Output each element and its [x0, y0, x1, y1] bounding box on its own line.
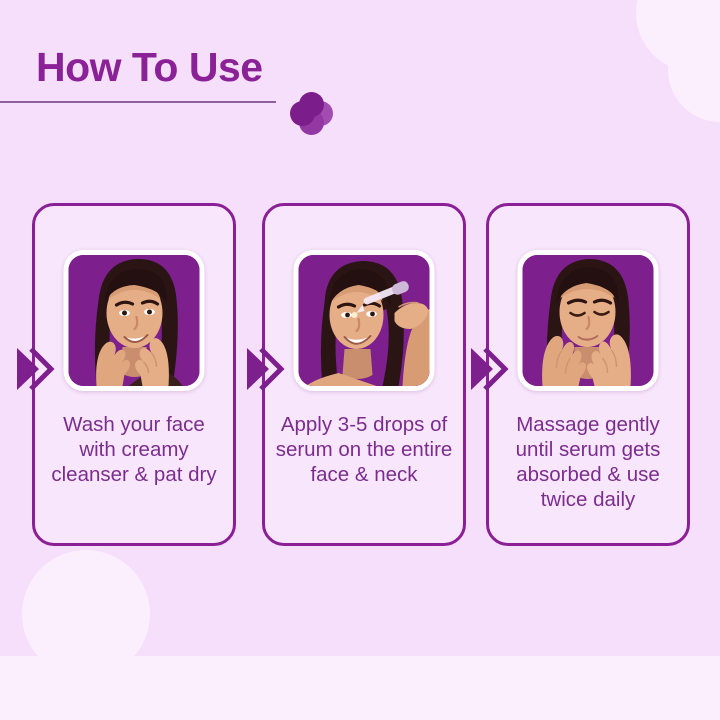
chevron-right-icon-3 [467, 346, 509, 392]
decorative-blob-top-right-a [636, 0, 720, 72]
step-1-caption: Wash your face with creamy cleanser & pa… [43, 412, 225, 487]
chevron-right-icon-1 [13, 346, 55, 392]
decorative-blob-bottom-left [22, 550, 150, 678]
step-3-caption: Massage gently until serum gets absorbed… [497, 412, 679, 512]
page-title: How To Use [0, 44, 340, 90]
steps-row: Wash your face with creamy cleanser & pa… [0, 203, 720, 548]
title-divider [0, 101, 276, 103]
woman-washing-face-photo [69, 255, 200, 386]
step-2-photo-frame [294, 250, 435, 391]
four-petal-flower-icon [290, 92, 334, 136]
woman-applying-serum-dropper-photo [299, 255, 430, 386]
step-card-3: Massage gently until serum gets absorbed… [486, 203, 690, 546]
step-1-photo-frame [64, 250, 205, 391]
step-2-caption: Apply 3-5 drops of serum on the entire f… [273, 412, 455, 487]
woman-massaging-face-photo [523, 255, 654, 386]
step-card-2: Apply 3-5 drops of serum on the entire f… [262, 203, 466, 546]
decorative-bottom-band [0, 656, 720, 720]
chevron-right-icon-2 [243, 346, 285, 392]
step-3-photo-frame [518, 250, 659, 391]
header: How To Use [0, 44, 340, 103]
flower-petal-left [290, 101, 315, 126]
decorative-blob-top-right-b [668, 18, 720, 122]
how-to-use-infographic: How To Use [0, 0, 720, 720]
step-card-1: Wash your face with creamy cleanser & pa… [32, 203, 236, 546]
